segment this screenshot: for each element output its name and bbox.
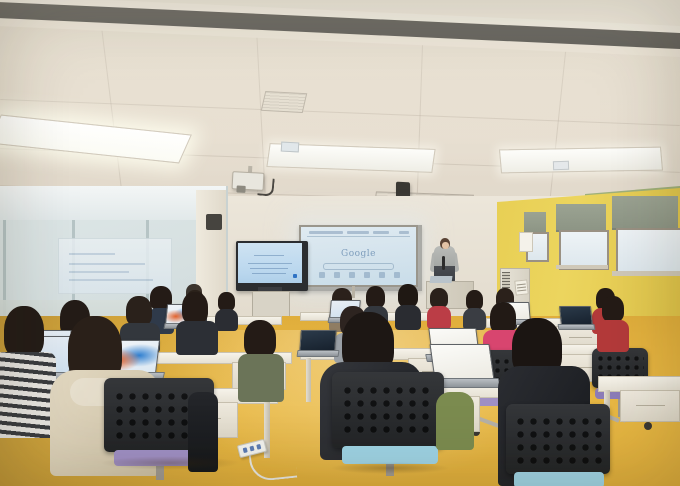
presenter-laptop [430, 276, 453, 283]
attendee-hair [4, 306, 44, 358]
floor-shadow [330, 462, 450, 474]
power-outlet [256, 444, 261, 450]
chair-caster [644, 422, 652, 430]
attendee-torso [427, 306, 451, 329]
presenter-face [442, 242, 449, 249]
glass-transom [0, 186, 226, 220]
window [559, 230, 609, 270]
attendee-torso [215, 309, 238, 331]
attendee-torso [597, 320, 629, 352]
attendee-torso [238, 354, 284, 402]
monitor-text-line [252, 273, 286, 274]
ceiling-sensor [553, 161, 569, 171]
chair-seat [514, 472, 604, 486]
wall-mounted-monitor [238, 243, 302, 283]
window-blind [612, 196, 678, 230]
google-logo: Google [301, 249, 416, 259]
screen-reflection-in-glass [58, 238, 172, 294]
attendee-torso [463, 308, 486, 330]
attendee-hair [398, 284, 418, 307]
attendee-hair [430, 288, 448, 308]
ceiling-air-vent [261, 91, 308, 113]
posted-notice [514, 279, 528, 295]
shortcut-icon [349, 272, 355, 278]
shortcut-icon [394, 272, 400, 278]
chair-backrest [506, 404, 610, 474]
chair-mesh [514, 415, 601, 464]
screen-stand [352, 286, 355, 298]
attendee-hair [126, 296, 152, 326]
shortcut-icon [319, 272, 325, 278]
attendee-hair [366, 286, 385, 308]
power-outlet [249, 446, 254, 452]
laptop-keyboard [557, 324, 595, 330]
desk-drawer [620, 390, 680, 422]
shortcut-icon-row [315, 272, 402, 279]
desk-leg [306, 358, 311, 402]
shortcut-icon [379, 272, 385, 278]
window-sill [612, 271, 680, 276]
shortcut-icon [334, 272, 340, 278]
browser-address-bar [307, 231, 410, 237]
attendee-torso [436, 392, 474, 450]
attendee-hair [466, 290, 483, 310]
laptop-keyboard [297, 350, 340, 357]
monitor-text-line [248, 263, 292, 264]
attendee-torso [176, 321, 218, 355]
ceiling-light-fixture [499, 147, 663, 174]
window-sill [556, 265, 608, 269]
reflection-line [69, 271, 129, 273]
wall-notice [519, 232, 533, 252]
projection-screen: Google [301, 227, 416, 285]
window [616, 228, 680, 276]
floor-shadow [100, 456, 240, 470]
search-box-on-screen [323, 263, 394, 270]
attendee-torso [0, 352, 56, 438]
attendee-hair [244, 320, 276, 358]
wall-speaker [206, 214, 222, 230]
monitor-text-line [250, 268, 288, 269]
shortcut-icon [364, 272, 370, 278]
monitor-status-light [293, 274, 297, 278]
chair-backrest [332, 372, 444, 448]
ceiling-sensor [281, 142, 299, 153]
attendee-hair [182, 292, 208, 324]
window-blind [524, 212, 546, 234]
reflection-line [69, 279, 153, 281]
attendee-hair [602, 296, 624, 322]
attendee-torso [395, 305, 421, 330]
monitor-text-line [254, 255, 284, 256]
laptop-screen [559, 306, 593, 326]
laptop-screen [299, 330, 337, 352]
reflection-line [69, 253, 115, 255]
window-blind [556, 204, 606, 232]
power-outlet [243, 447, 248, 453]
microphone [442, 256, 445, 270]
chair-mesh [341, 384, 435, 437]
reflection-line [69, 263, 145, 265]
classroom-photo: Google [0, 0, 680, 486]
